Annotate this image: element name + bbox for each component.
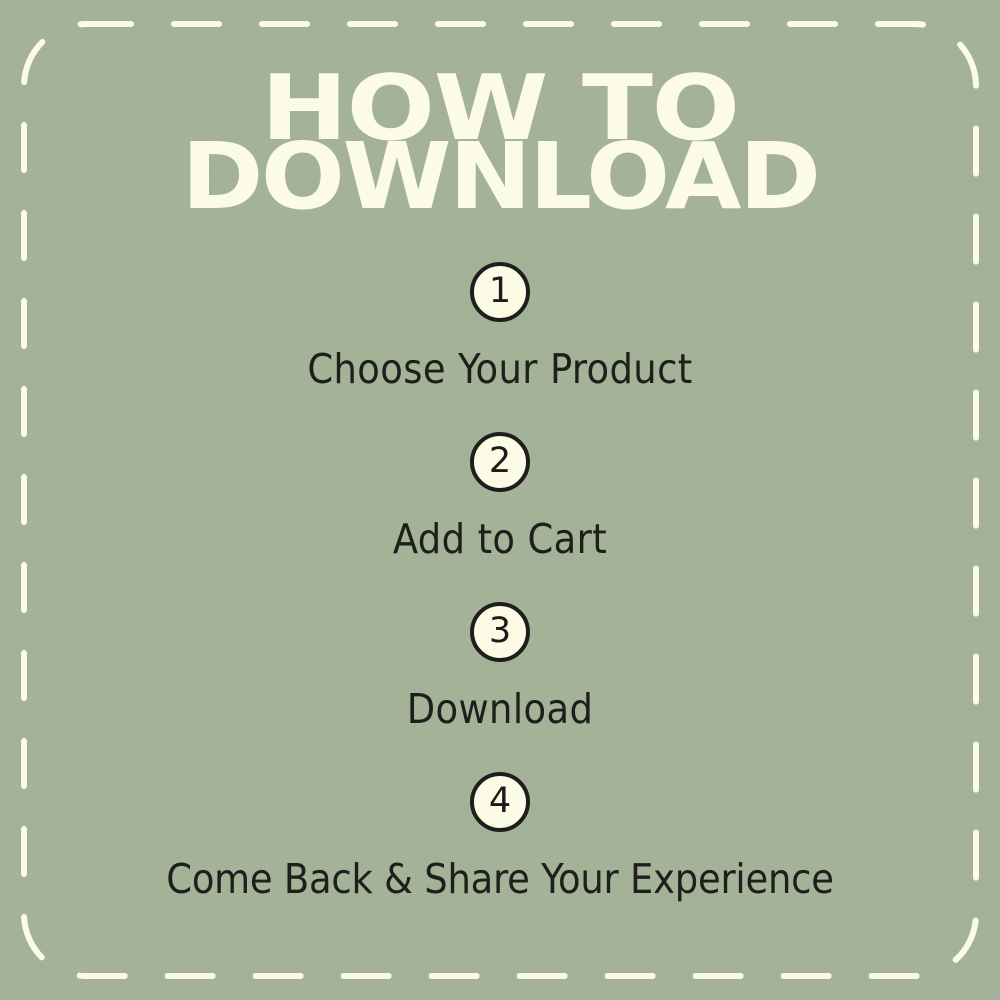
steps-list: 1 Choose Your Product 2 Add to Cart 3 Do… (0, 262, 1000, 942)
step-3-number: 3 (489, 614, 511, 649)
step-2-badge: 2 (470, 432, 530, 492)
title-line-download: DOWNLOAD (0, 146, 1000, 208)
step-3-label: Download (0, 685, 1000, 733)
step-3: 3 Download (0, 602, 1000, 733)
step-4-number: 4 (489, 784, 511, 819)
poster-title: HOW TO DOWNLOAD (0, 78, 1000, 209)
step-2: 2 Add to Cart (0, 432, 1000, 563)
title-line-download-text: DOWNLOAD (181, 142, 818, 214)
step-1-number: 1 (489, 274, 511, 309)
step-4-badge: 4 (470, 772, 530, 832)
step-1: 1 Choose Your Product (0, 262, 1000, 393)
step-2-number: 2 (489, 444, 511, 479)
step-1-label: Choose Your Product (0, 345, 1000, 393)
step-4: 4 Come Back & Share Your Experience (0, 772, 1000, 903)
step-2-label: Add to Cart (0, 515, 1000, 563)
step-4-label: Come Back & Share Your Experience (0, 855, 1000, 903)
step-1-badge: 1 (470, 262, 530, 322)
step-3-badge: 3 (470, 602, 530, 662)
poster-canvas: HOW TO DOWNLOAD 1 Choose Your Product 2 … (0, 0, 1000, 1000)
